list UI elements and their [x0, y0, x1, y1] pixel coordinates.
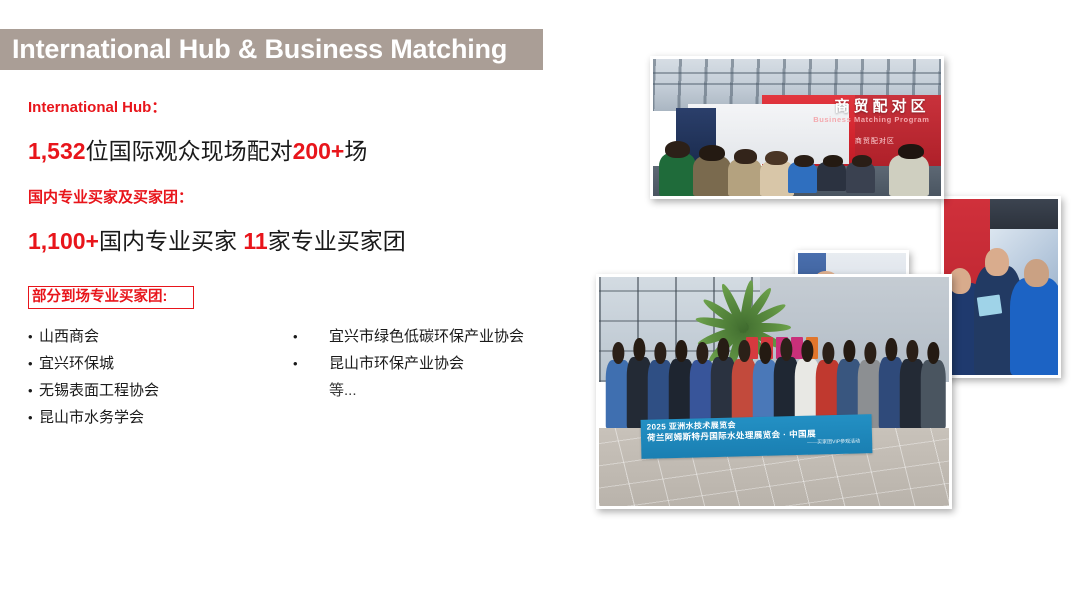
- crowd-figures: [653, 119, 941, 196]
- domestic-buyer-count: 1,100+: [28, 228, 99, 254]
- list-item-label: 无锡表面工程协会: [39, 377, 159, 404]
- bullet-icon: •: [28, 323, 39, 350]
- page-title: International Hub & Business Matching: [0, 34, 507, 65]
- delegation-list-right: • 宜兴市绿色低碳环保产业协会 • 昆山市环保产业协会 等...: [290, 323, 524, 404]
- bullet-icon: •: [28, 377, 39, 404]
- domestic-buyers-stat: 1,100+国内专业买家 11家专业买家团: [28, 226, 568, 256]
- bullet-icon: •: [28, 350, 39, 377]
- list-item: • 宜兴市绿色低碳环保产业协会: [293, 323, 524, 350]
- bullet-icon: •: [28, 404, 39, 431]
- delegation-lists: • 山西商会 • 宜兴环保城 • 无锡表面工程协会 • 昆山市水务学会 • 宜兴…: [28, 323, 568, 431]
- list-item-label: 昆山市环保产业协会: [329, 350, 464, 377]
- hub-matching-count: 200+: [293, 138, 345, 164]
- list-item: • 无锡表面工程协会: [28, 377, 290, 404]
- list-item-label: 昆山市水务学会: [39, 404, 144, 431]
- delegation-list-left: • 山西商会 • 宜兴环保城 • 无锡表面工程协会 • 昆山市水务学会: [28, 323, 290, 431]
- list-item-label: 宜兴市绿色低碳环保产业协会: [329, 323, 524, 350]
- list-item: • 山西商会: [28, 323, 290, 350]
- etc-label: 等...: [329, 377, 357, 404]
- list-item-etc: 等...: [293, 377, 524, 404]
- international-hub-stat: 1,532位国际观众现场配对200+场: [28, 136, 568, 166]
- etc-spacer: [293, 377, 329, 404]
- buyer-delegation-group-photo: 2025 亚洲水技术展览会 荷兰阿姆斯特丹国际水处理展览会 · 中国展 ——买家…: [596, 274, 952, 509]
- domestic-buyers-label: 国内专业买家及买家团：: [28, 188, 568, 208]
- list-item: • 昆山市水务学会: [28, 404, 290, 431]
- bullet-icon: •: [293, 323, 329, 350]
- delegation-text: 家专业买家团: [268, 228, 406, 254]
- bullet-icon: •: [293, 350, 329, 377]
- hub-visitor-text: 位国际观众现场配对: [86, 138, 293, 164]
- business-matching-area-photo: 商贸配对区 Business Matching Program 商贸配对区: [650, 56, 944, 199]
- attending-delegations-badge: 部分到场专业买家团:: [28, 286, 194, 309]
- international-delegates-photo: [941, 196, 1061, 378]
- group-photo-banner: 2025 亚洲水技术展览会 荷兰阿姆斯特丹国际水处理展览会 · 中国展 ——买家…: [641, 414, 873, 459]
- hub-visitor-count: 1,532: [28, 138, 86, 164]
- domestic-buyer-text: 国内专业买家: [99, 228, 243, 254]
- delegation-count: 11: [243, 228, 267, 254]
- left-content-column: International Hub： 1,532位国际观众现场配对200+场 国…: [28, 98, 568, 431]
- slide-title-bar: International Hub & Business Matching: [0, 29, 543, 70]
- international-hub-label: International Hub：: [28, 98, 568, 118]
- list-item-label: 山西商会: [39, 323, 99, 350]
- list-item: • 宜兴环保城: [28, 350, 290, 377]
- list-item-label: 宜兴环保城: [39, 350, 114, 377]
- booth-banner-cn: 商贸配对区: [834, 95, 929, 116]
- list-item: • 昆山市环保产业协会: [293, 350, 524, 377]
- hub-matching-text: 场: [344, 138, 367, 164]
- attending-delegations-heading-wrap: 部分到场专业买家团:: [28, 286, 568, 309]
